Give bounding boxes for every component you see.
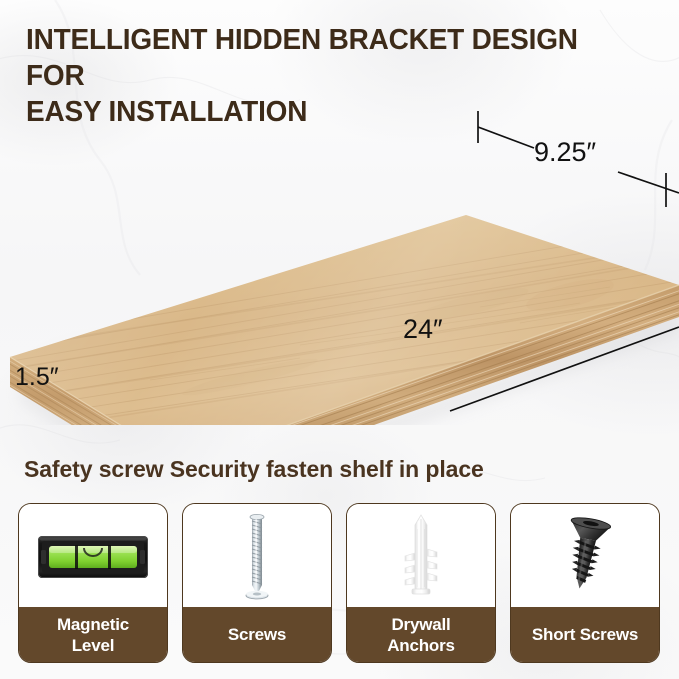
shelf-illustration: 9.25″ 24″ 1.5″ (0, 95, 679, 425)
section-subtitle: Safety screw Security fasten shelf in pl… (24, 456, 484, 483)
dimension-label-length: 24″ (403, 314, 443, 344)
accessory-icon-area (19, 504, 167, 609)
long-screw-icon (237, 511, 277, 603)
accessory-card-list: Magnetic Level (0, 503, 679, 665)
accessory-label-screws: Screws (183, 607, 331, 662)
shelf-top-face (0, 215, 679, 425)
drywall-anchor-icon (398, 511, 444, 603)
accessory-card-short-screws[interactable]: Short Screws (510, 503, 660, 663)
accessory-card-magnetic-level[interactable]: Magnetic Level (18, 503, 168, 663)
accessory-label-line-1: Short Screws (528, 624, 642, 645)
accessory-label-magnetic-level: Magnetic Level (19, 607, 167, 662)
magnetic-level-icon (37, 530, 149, 584)
short-screw-icon (556, 515, 614, 599)
accessory-icon-area (511, 504, 659, 609)
accessory-label-drywall-anchors: Drywall Anchors (347, 607, 495, 662)
infographic-canvas: INTELLIGENT HIDDEN BRACKET DESIGN FOR EA… (0, 0, 679, 679)
accessory-card-screws[interactable]: Screws (182, 503, 332, 663)
accessory-label-line-2: Level (68, 636, 118, 655)
accessory-label-line-2: Anchors (383, 636, 459, 655)
accessory-label-line-1: Screws (224, 624, 290, 645)
accessory-card-drywall-anchors[interactable]: Drywall Anchors (346, 503, 496, 663)
accessory-icon-area (183, 504, 331, 609)
shelf-svg: 9.25″ 24″ 1.5″ (0, 95, 679, 425)
dimension-label-depth: 9.25″ (534, 137, 597, 167)
accessory-label-line-1: Magnetic (53, 615, 133, 634)
accessory-label-line-1: Drywall (387, 615, 454, 634)
accessory-icon-area (347, 504, 495, 609)
page-title-line-1: INTELLIGENT HIDDEN BRACKET DESIGN FOR (26, 22, 644, 94)
accessory-label-short-screws: Short Screws (511, 607, 659, 662)
dimension-label-height: 1.5″ (15, 363, 59, 391)
